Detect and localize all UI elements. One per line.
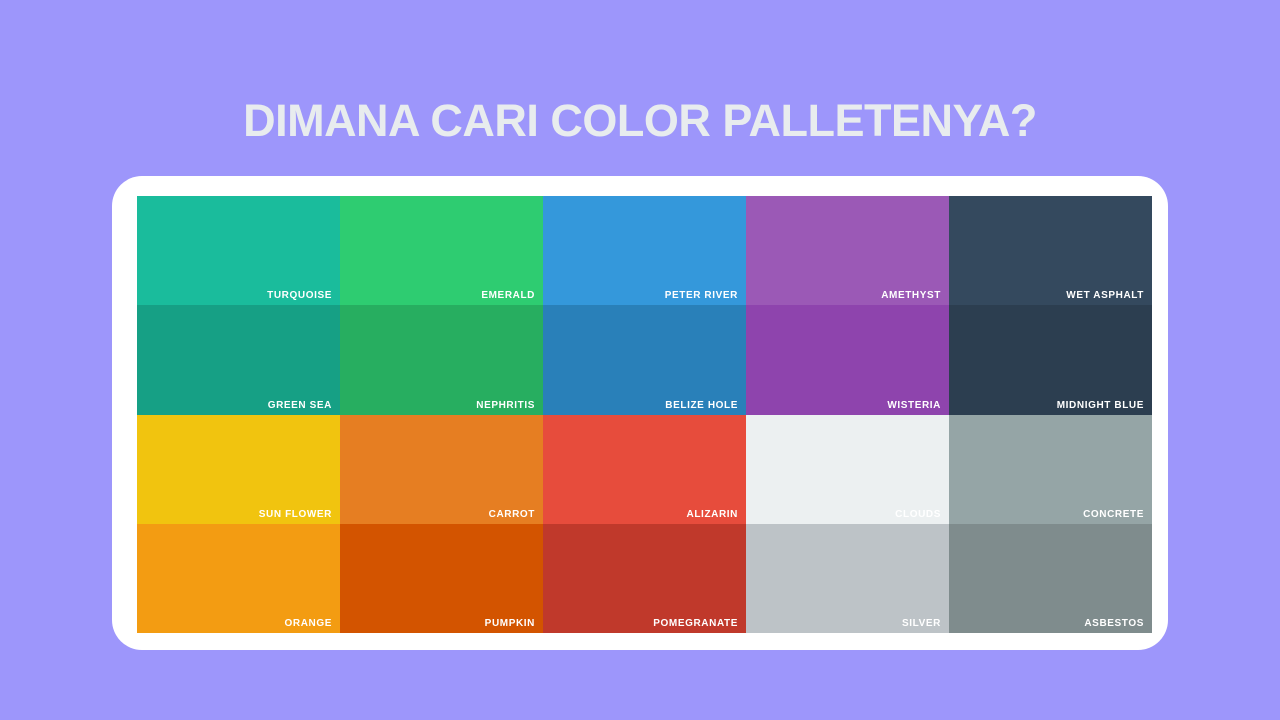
- color-swatch[interactable]: MIDNIGHT BLUE: [949, 305, 1152, 414]
- color-swatch-label: SILVER: [902, 618, 941, 629]
- color-swatch-label: ASBESTOS: [1084, 618, 1144, 629]
- color-swatch[interactable]: WET ASPHALT: [949, 196, 1152, 305]
- color-swatch-label: GREEN SEA: [268, 400, 332, 411]
- page-title: DIMANA CARI COLOR PALLETENYA?: [0, 96, 1280, 146]
- color-swatch[interactable]: ASBESTOS: [949, 524, 1152, 633]
- color-swatch[interactable]: CONCRETE: [949, 415, 1152, 524]
- color-swatch-label: EMERALD: [481, 290, 535, 301]
- color-swatch[interactable]: ALIZARIN: [543, 415, 746, 524]
- color-swatch-label: WET ASPHALT: [1066, 290, 1144, 301]
- color-swatch[interactable]: EMERALD: [340, 196, 543, 305]
- color-swatch-label: CLOUDS: [895, 509, 941, 520]
- color-swatch-label: CONCRETE: [1083, 509, 1144, 520]
- color-swatch-label: BELIZE HOLE: [665, 400, 738, 411]
- color-swatch-label: MIDNIGHT BLUE: [1057, 400, 1144, 411]
- color-swatch-label: ALIZARIN: [687, 509, 738, 520]
- color-swatch-label: WISTERIA: [887, 400, 941, 411]
- color-swatch[interactable]: PUMPKIN: [340, 524, 543, 633]
- color-swatch[interactable]: TURQUOISE: [137, 196, 340, 305]
- color-swatch[interactable]: GREEN SEA: [137, 305, 340, 414]
- color-swatch[interactable]: BELIZE HOLE: [543, 305, 746, 414]
- color-swatch[interactable]: POMEGRANATE: [543, 524, 746, 633]
- color-palette-grid: TURQUOISEEMERALDPETER RIVERAMETHYSTWET A…: [137, 196, 1152, 633]
- color-swatch[interactable]: CARROT: [340, 415, 543, 524]
- color-swatch-label: ORANGE: [285, 618, 333, 629]
- color-swatch[interactable]: AMETHYST: [746, 196, 949, 305]
- color-swatch[interactable]: CLOUDS: [746, 415, 949, 524]
- color-swatch[interactable]: WISTERIA: [746, 305, 949, 414]
- color-swatch-label: NEPHRITIS: [476, 400, 535, 411]
- color-swatch-label: POMEGRANATE: [653, 618, 738, 629]
- color-swatch[interactable]: PETER RIVER: [543, 196, 746, 305]
- color-swatch[interactable]: SILVER: [746, 524, 949, 633]
- color-swatch-label: TURQUOISE: [267, 290, 332, 301]
- color-swatch[interactable]: ORANGE: [137, 524, 340, 633]
- color-swatch[interactable]: SUN FLOWER: [137, 415, 340, 524]
- color-swatch-label: PUMPKIN: [485, 618, 535, 629]
- color-swatch-label: SUN FLOWER: [259, 509, 332, 520]
- color-swatch[interactable]: NEPHRITIS: [340, 305, 543, 414]
- color-swatch-label: AMETHYST: [881, 290, 941, 301]
- color-swatch-label: PETER RIVER: [665, 290, 738, 301]
- color-swatch-label: CARROT: [489, 509, 535, 520]
